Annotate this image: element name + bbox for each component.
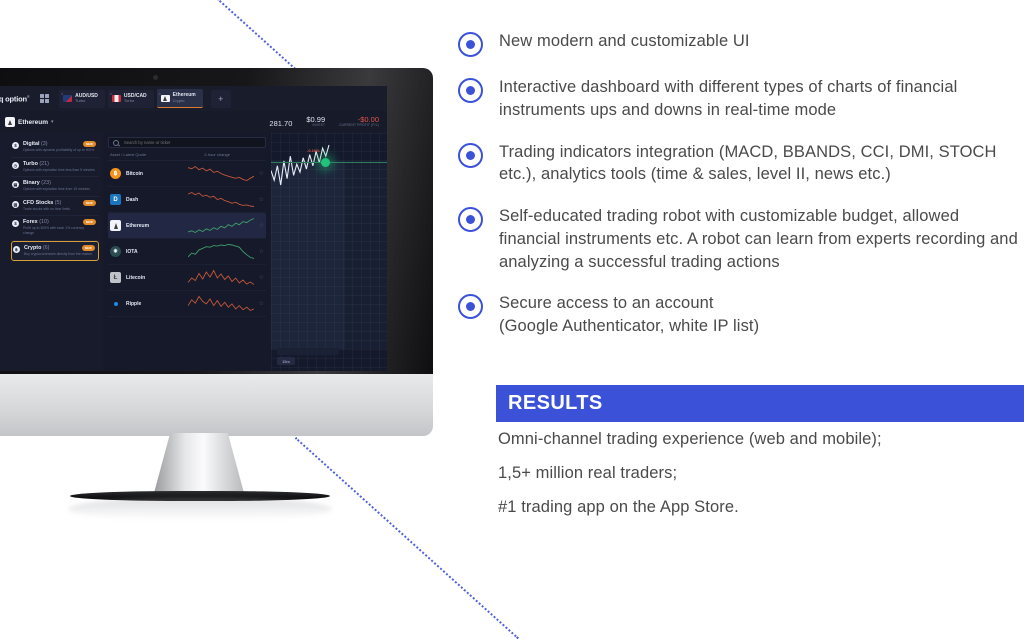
chart-pane[interactable]: -0.10% 15m: [271, 133, 387, 371]
category-count: (3): [41, 141, 48, 147]
flag-icon-audusd: [63, 95, 72, 102]
content-column: New modern and customizable UIInteractiv…: [450, 0, 1024, 576]
results-heading-bar: RESULTS: [496, 385, 1024, 422]
tab-label-ethereum: Ethereum Crypto: [173, 93, 196, 102]
favorite-star-icon[interactable]: ☆: [259, 196, 264, 203]
asset-row-ripple[interactable]: Ripple☆: [108, 291, 266, 317]
asset-name: Dash: [126, 197, 170, 203]
search-box[interactable]: [108, 137, 266, 148]
trading-app: iq option® × AUD/USD Turbo: [0, 86, 387, 371]
category-count: (10): [39, 219, 49, 225]
tab-label-usdcad: USD/CAD Turbo: [124, 94, 147, 103]
category-icon: $: [12, 142, 19, 149]
current-price: 281.70: [269, 120, 292, 128]
tab-usdcad[interactable]: × USD/CAD Turbo: [108, 90, 154, 108]
new-badge: NEW: [83, 141, 96, 147]
category-icon: ฿: [13, 246, 20, 253]
monitor-screen: iq option® × AUD/USD Turbo: [0, 86, 387, 371]
grid-view-icon[interactable]: [40, 94, 50, 104]
category-title: Binary (23): [23, 180, 97, 186]
instrument-name: Ethereum: [18, 119, 48, 126]
invest-amount: $0.99 INVEST: [306, 116, 325, 128]
search-icon: [113, 140, 119, 146]
asset-panel: Asset / Latest Quote 2-hour change ฿Bitc…: [103, 133, 271, 371]
change-percent-label: -0.10%: [307, 148, 320, 153]
category-forex[interactable]: $Forex (10)Profit up to 300% with each 1…: [11, 216, 99, 240]
category-title: Turbo (21): [23, 161, 97, 167]
tab-audusd[interactable]: × AUD/USD Turbo: [59, 90, 105, 108]
instrument-selector[interactable]: Ethereum ▾: [5, 117, 54, 127]
asset-row-bitcoin[interactable]: ฿Bitcoin☆: [108, 161, 266, 187]
feature-text: Interactive dashboard with different typ…: [499, 76, 1024, 122]
new-badge: NEW: [83, 219, 96, 225]
results-heading: RESULTS: [508, 392, 603, 415]
bullet-dot-icon: [458, 294, 483, 319]
category-description: Profit up to 300% with each 1% currency …: [23, 226, 95, 235]
sparkline: [188, 269, 254, 286]
category-count: (5): [55, 200, 62, 206]
asset-name: Litecoin: [126, 275, 170, 281]
brand-sup: ®: [27, 94, 30, 99]
category-icon: $: [12, 220, 19, 227]
feature-text: New modern and customizable UI: [499, 30, 750, 53]
asset-table-header: Asset / Latest Quote 2-hour change: [108, 148, 266, 161]
favorite-star-icon[interactable]: ☆: [259, 300, 264, 307]
category-count: (23): [41, 180, 51, 186]
asset-row-iota[interactable]: ✷IOTA☆: [108, 239, 266, 265]
bullet-dot-icon: [458, 207, 483, 232]
flag-icon-usdcad: [112, 95, 121, 102]
asset-row-ethereum[interactable]: Ethereum☆: [108, 213, 266, 239]
category-description: Trade stocks with no time limits: [23, 207, 95, 212]
instrument-tabs: × AUD/USD Turbo × USD/CAD: [59, 89, 231, 108]
column-change: 2-hour change: [204, 152, 230, 157]
category-description: Options with dynamic profitability of up…: [23, 148, 95, 153]
iota-icon: ✷: [110, 246, 121, 257]
tab-subtitle: Crypto: [173, 99, 196, 103]
tab-ethereum[interactable]: × Ethereum Crypto: [157, 89, 203, 108]
asset-name: Bitcoin: [126, 171, 170, 177]
brand-name: iq option®: [0, 94, 30, 104]
asset-name: Ethereum: [126, 223, 170, 229]
column-asset: Asset / Latest Quote: [110, 152, 146, 157]
result-item: #1 trading app on the App Store.: [498, 498, 1018, 517]
asset-name: IOTA: [126, 249, 170, 255]
feature-text: Self-educated trading robot with customi…: [499, 205, 1024, 273]
category-digital[interactable]: $Digital (3)Options with dynamic profita…: [11, 138, 99, 158]
feature-item: Secure access to an account(Google Authe…: [458, 292, 1024, 338]
ripple-icon: [110, 298, 121, 309]
sparkline: [188, 191, 254, 208]
category-count: (6): [43, 245, 50, 251]
new-badge: NEW: [83, 200, 96, 206]
category-icon: ▤: [12, 181, 19, 188]
sparkline: [188, 243, 254, 260]
category-cfd-stocks[interactable]: ▥CFD Stocks (5)Trade stocks with no time…: [11, 197, 99, 217]
bullet-dot-icon: [458, 143, 483, 168]
timeframe-row[interactable]: [277, 348, 339, 355]
asset-row-litecoin[interactable]: ŁLitecoin☆: [108, 265, 266, 291]
current-price-marker: [321, 158, 330, 167]
search-input[interactable]: [122, 139, 261, 146]
sparkline: [188, 165, 254, 182]
category-description: Options with expiration time less than 5…: [23, 168, 95, 173]
category-count: (21): [39, 161, 49, 167]
ethereum-icon: [161, 95, 170, 102]
sparkline: [188, 295, 254, 312]
current-profit: -$0.00 CURRENT PROFIT (P/L): [339, 116, 379, 128]
results-list: Omni-channel trading experience (web and…: [498, 430, 1018, 532]
monitor-stand-neck: [154, 433, 244, 493]
dash-icon: D: [110, 194, 121, 205]
tab-subtitle: Turbo: [124, 99, 147, 103]
asset-row-dash[interactable]: DDash☆: [108, 187, 266, 213]
monitor-chin: [0, 374, 433, 436]
profit-label: CURRENT PROFIT (P/L): [339, 124, 379, 128]
feature-item: Trading indicators integration (MACD, BB…: [458, 141, 1024, 187]
category-crypto[interactable]: ฿Crypto (6)Buy cryptocurrencies directly…: [11, 241, 99, 262]
ethereum-icon: [5, 117, 15, 127]
category-list: $Digital (3)Options with dynamic profita…: [6, 133, 103, 371]
bullet-dot-icon: [458, 32, 483, 57]
stand-reflection: [68, 498, 332, 520]
price-value: 281.70: [269, 120, 292, 128]
bitcoin-icon: ฿: [110, 168, 121, 179]
favorite-star-icon[interactable]: ☆: [259, 248, 264, 255]
feature-item: Self-educated trading robot with customi…: [458, 205, 1024, 273]
asset-name: Ripple: [126, 301, 170, 307]
feature-item: New modern and customizable UI: [458, 30, 1024, 57]
invest-label: INVEST: [306, 124, 325, 128]
feature-item: Interactive dashboard with different typ…: [458, 76, 1024, 122]
quote-values: 281.70 $0.99 INVEST -$0.00 CURRENT PROFI…: [269, 116, 387, 128]
instrument-header: × Ethereum ▾ 281.70 $0.99 INVEST: [0, 111, 387, 134]
favorite-star-icon[interactable]: ☆: [259, 170, 264, 177]
litecoin-icon: Ł: [110, 272, 121, 283]
favorite-star-icon[interactable]: ☆: [259, 274, 264, 281]
category-description: Buy cryptocurrencies directly from the m…: [24, 252, 96, 257]
imac-monitor: iq option® × AUD/USD Turbo: [0, 68, 433, 445]
category-binary[interactable]: ▤Binary (23)Options with expiration time…: [11, 177, 99, 197]
asset-rows: ฿Bitcoin☆DDash☆Ethereum☆✷IOTA☆ŁLitecoin☆…: [108, 161, 266, 317]
favorite-star-icon[interactable]: ☆: [259, 222, 264, 229]
category-turbo[interactable]: ◷Turbo (21)Options with expiration time …: [11, 158, 99, 178]
category-icon: ◷: [12, 162, 19, 169]
chevron-down-icon[interactable]: ▾: [51, 119, 54, 125]
feature-text: Trading indicators integration (MACD, BB…: [499, 141, 1024, 187]
slide-root: iq option® × AUD/USD Turbo: [0, 0, 1024, 576]
bullet-dot-icon: [458, 78, 483, 103]
category-icon: ▥: [12, 201, 19, 208]
brand-logo[interactable]: iq option®: [0, 93, 30, 104]
category-description: Options with expiration time from 15 min…: [23, 187, 95, 192]
tab-subtitle: Turbo: [75, 99, 98, 103]
app-topbar: iq option® × AUD/USD Turbo: [0, 86, 387, 112]
feature-list: New modern and customizable UIInteractiv…: [458, 30, 1024, 357]
ethereum-icon: [110, 220, 121, 231]
sparkline: [188, 217, 254, 234]
webcam-icon: [153, 75, 158, 80]
add-tab-button[interactable]: +: [211, 90, 231, 108]
result-item: Omni-channel trading experience (web and…: [498, 430, 1018, 449]
new-badge: NEW: [82, 245, 95, 251]
result-item: 1,5+ million real traders;: [498, 464, 1018, 483]
timeframe-button[interactable]: 15m: [277, 357, 295, 365]
feature-text: Secure access to an account(Google Authe…: [499, 292, 759, 338]
tab-label-audusd: AUD/USD Turbo: [75, 94, 98, 103]
price-line-chart: [271, 141, 387, 191]
